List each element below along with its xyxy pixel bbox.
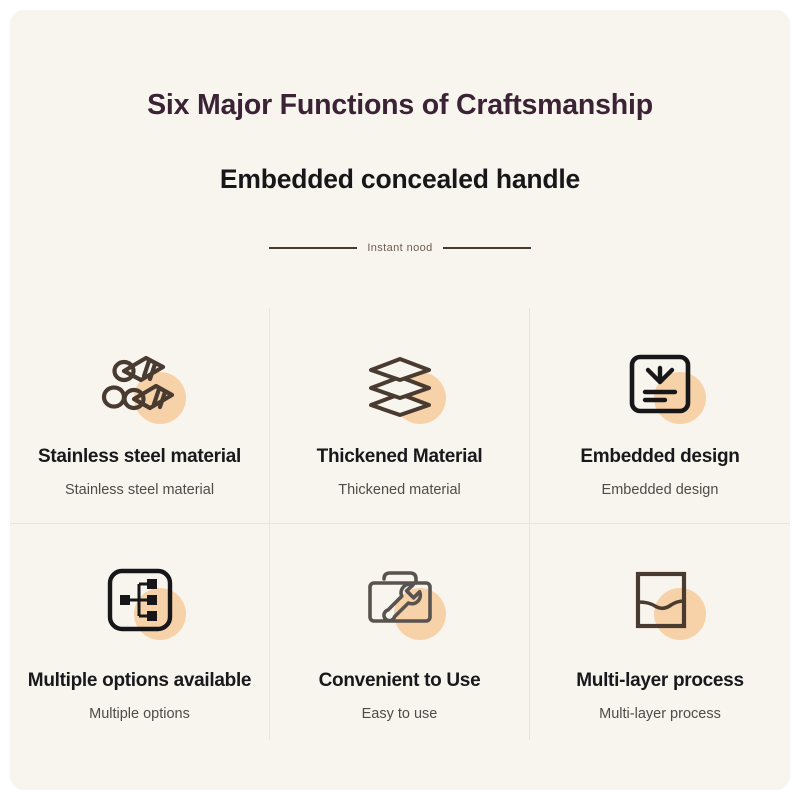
header: Six Major Functions of Craftsmanship Emb… xyxy=(10,10,790,254)
icon-container xyxy=(352,342,448,426)
feature-title: Thickened Material xyxy=(317,446,483,468)
icon-container xyxy=(92,342,188,426)
stacked-layers-icon xyxy=(361,349,439,419)
feature-cell-convenient-to-use[interactable]: Convenient to Use Easy to use xyxy=(270,524,530,740)
steel-tubes-icon xyxy=(101,349,179,419)
divider-line-right xyxy=(443,247,531,249)
feature-subtitle: Multiple options xyxy=(89,706,190,723)
section-divider: Instant nood xyxy=(10,242,790,254)
feature-cell-multiple-options[interactable]: Multiple options available Multiple opti… xyxy=(10,524,270,740)
feature-title: Embedded design xyxy=(580,446,739,468)
page-title: Six Major Functions of Craftsmanship xyxy=(10,88,790,122)
feature-subtitle: Stainless steel material xyxy=(65,482,214,499)
multi-layer-square-icon xyxy=(624,564,696,636)
feature-subtitle: Embedded design xyxy=(602,482,719,499)
icon-container xyxy=(352,558,448,642)
promo-panel: Six Major Functions of Craftsmanship Emb… xyxy=(10,10,790,790)
feature-cell-embedded-design[interactable]: Embedded design Embedded design xyxy=(530,308,790,524)
feature-cell-stainless-steel[interactable]: Stainless steel material Stainless steel… xyxy=(10,308,270,524)
divider-label: Instant nood xyxy=(367,242,432,254)
embedded-arrow-down-icon xyxy=(624,349,696,419)
feature-title: Multiple options available xyxy=(28,670,251,692)
feature-cell-multi-layer-process[interactable]: Multi-layer process Multi-layer process xyxy=(530,524,790,740)
feature-title: Stainless steel material xyxy=(38,446,241,468)
icon-container xyxy=(92,558,188,642)
icon-container xyxy=(612,558,708,642)
feature-subtitle: Thickened material xyxy=(338,482,461,499)
feature-subtitle: Multi-layer process xyxy=(599,706,721,723)
toolbox-wrench-icon xyxy=(359,564,441,636)
feature-grid: Stainless steel material Stainless steel… xyxy=(10,308,790,740)
hierarchy-tree-icon xyxy=(102,564,178,636)
feature-title: Convenient to Use xyxy=(319,670,481,692)
divider-line-left xyxy=(269,247,357,249)
icon-container xyxy=(612,342,708,426)
page-subtitle: Embedded concealed handle xyxy=(10,122,790,196)
feature-subtitle: Easy to use xyxy=(362,706,438,723)
feature-title: Multi-layer process xyxy=(576,670,743,692)
feature-cell-thickened-material[interactable]: Thickened Material Thickened material xyxy=(270,308,530,524)
